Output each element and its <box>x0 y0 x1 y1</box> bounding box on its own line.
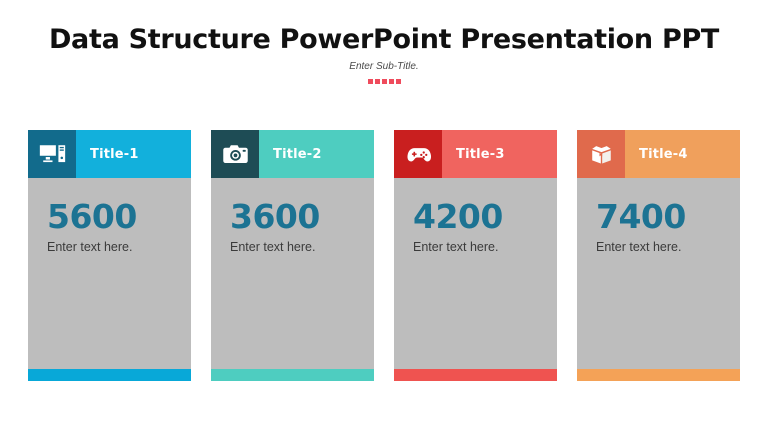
info-card[interactable]: Title-15600Enter text here. <box>28 130 191 381</box>
card-title: Title-2 <box>259 147 374 162</box>
card-accent-bar <box>28 369 191 381</box>
card-value: 7400 <box>596 200 740 233</box>
subtitle-dot-separator <box>0 72 768 84</box>
card-accent-bar <box>211 369 374 381</box>
card-value: 3600 <box>230 200 374 233</box>
card-title: Title-1 <box>76 147 191 162</box>
cards-row: Title-15600Enter text here.Title-23600En… <box>28 130 740 381</box>
card-body: 7400Enter text here. <box>577 178 740 369</box>
card-header: Title-4 <box>577 130 740 178</box>
card-body: 3600Enter text here. <box>211 178 374 369</box>
info-card[interactable]: Title-34200Enter text here. <box>394 130 557 381</box>
gamepad-icon <box>394 130 442 178</box>
card-value: 5600 <box>47 200 191 233</box>
page-title: Data Structure PowerPoint Presentation P… <box>0 0 768 55</box>
info-card[interactable]: Title-47400Enter text here. <box>577 130 740 381</box>
camera-icon <box>211 130 259 178</box>
card-body: 5600Enter text here. <box>28 178 191 369</box>
package-box-icon <box>577 130 625 178</box>
card-body: 4200Enter text here. <box>394 178 557 369</box>
card-accent-bar <box>394 369 557 381</box>
subtitle-dot <box>382 79 387 84</box>
card-title: Title-3 <box>442 147 557 162</box>
subtitle-dot <box>389 79 394 84</box>
subtitle-dot <box>368 79 373 84</box>
card-caption: Enter text here. <box>413 233 557 254</box>
desktop-computer-icon <box>28 130 76 178</box>
card-value: 4200 <box>413 200 557 233</box>
card-header: Title-2 <box>211 130 374 178</box>
card-caption: Enter text here. <box>47 233 191 254</box>
card-header: Title-1 <box>28 130 191 178</box>
card-accent-bar <box>577 369 740 381</box>
subtitle-dot <box>375 79 380 84</box>
subtitle-dot <box>396 79 401 84</box>
card-title: Title-4 <box>625 147 740 162</box>
slide-header: Data Structure PowerPoint Presentation P… <box>0 0 768 84</box>
card-header: Title-3 <box>394 130 557 178</box>
page-subtitle: Enter Sub-Title. <box>0 55 768 72</box>
info-card[interactable]: Title-23600Enter text here. <box>211 130 374 381</box>
card-caption: Enter text here. <box>596 233 740 254</box>
card-caption: Enter text here. <box>230 233 374 254</box>
